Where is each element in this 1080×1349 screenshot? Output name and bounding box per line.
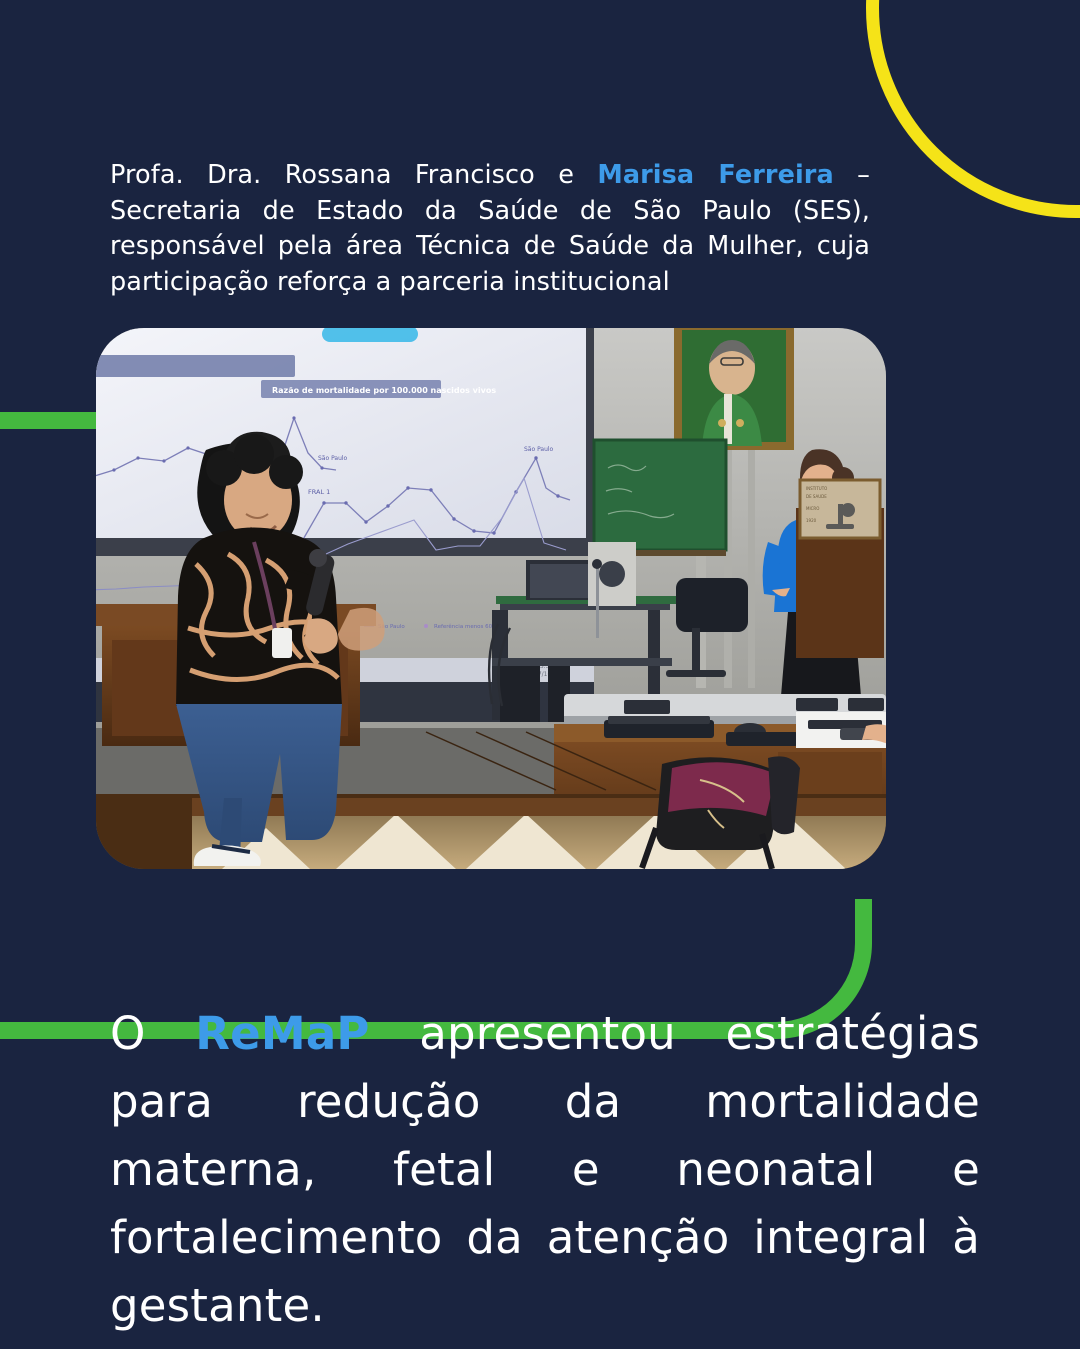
headline-highlight-remap: ReMaP [195, 1007, 369, 1060]
headline-text: O ReMaP apresentou estratégias para redu… [110, 1000, 980, 1340]
caption-text: Profa. Dra. Rossana Francisco e Marisa F… [110, 158, 870, 300]
svg-text:São Paulo: São Paulo [524, 446, 554, 453]
yellow-arc-decoration [866, 0, 1080, 218]
svg-text:São Paulo: São Paulo [318, 455, 348, 462]
svg-text:FRAL 1: FRAL 1 [308, 488, 330, 496]
svg-text:Referência menos 60%: Referência menos 60% [434, 623, 497, 630]
svg-text:1920: 1920 [806, 518, 817, 523]
headline-part-1: O [110, 1007, 195, 1060]
caption-part-1: Profa. Dra. Rossana Francisco e [110, 160, 597, 190]
event-photo: Razão de mortalidade por 100.000 nascido… [96, 328, 886, 869]
svg-text:INSTITUTO: INSTITUTO [806, 486, 827, 491]
social-media-card: Profa. Dra. Rossana Francisco e Marisa F… [0, 0, 1080, 1349]
svg-text:Razão de mortalidade por 100.0: Razão de mortalidade por 100.000 nascido… [272, 386, 496, 395]
svg-text:MICRO: MICRO [806, 506, 819, 511]
event-photo-illustration: Razão de mortalidade por 100.000 nascido… [96, 328, 886, 869]
caption-highlight-name: Marisa Ferreira [597, 160, 833, 190]
svg-text:DE SAUDE: DE SAUDE [806, 494, 827, 499]
